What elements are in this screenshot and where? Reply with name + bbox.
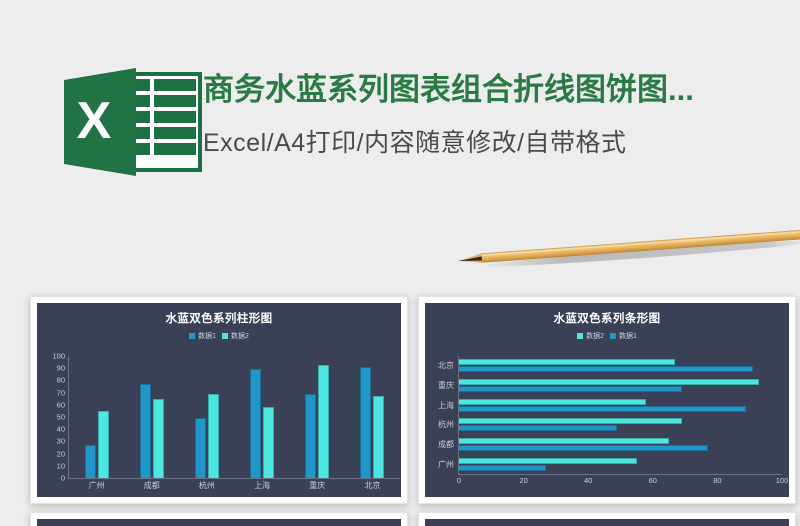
excel-logo-svg: X xyxy=(58,66,206,178)
y-axis-tick-label: 重庆 xyxy=(427,376,457,396)
bar-group xyxy=(459,356,782,376)
pencil-icon xyxy=(451,220,800,277)
y-axis-tick-label: 10 xyxy=(41,462,65,470)
column-bar[interactable] xyxy=(318,365,329,478)
bar-chart-title: 水蓝双色系列条形图 xyxy=(425,303,789,326)
x-axis-tick-label: 杭州 xyxy=(179,480,234,491)
bar-group xyxy=(459,376,782,396)
horizontal-bar[interactable] xyxy=(459,386,682,392)
x-axis-tick-label: 上海 xyxy=(235,480,290,491)
y-axis-tick-label: 上海 xyxy=(427,395,457,415)
legend-swatch-icon xyxy=(222,333,228,339)
horizontal-bar[interactable] xyxy=(459,406,746,412)
y-axis-tick-label: 广州 xyxy=(427,454,457,474)
legend-item-series2[interactable]: 数据2 xyxy=(222,331,249,341)
horizontal-bar[interactable] xyxy=(459,445,708,451)
legend-label: 数据1 xyxy=(619,331,637,341)
bar-chart-plot: 北京重庆上海杭州成都广州 020406080100 xyxy=(425,356,789,496)
column-chart-plot: 1009080706050403020100 广州成都杭州上海重庆北京 xyxy=(37,356,401,496)
next-chart-canvas-right xyxy=(425,519,789,526)
column-bar[interactable] xyxy=(140,384,151,478)
y-axis-tick-label: 90 xyxy=(41,364,65,372)
bar-group xyxy=(459,415,782,435)
legend-label: 数据2 xyxy=(586,331,604,341)
column-group xyxy=(235,356,290,478)
y-axis-tick-label: 杭州 xyxy=(427,415,457,435)
legend-swatch-icon xyxy=(577,333,583,339)
x-axis-line xyxy=(458,474,782,475)
template-preview-sheet: 水蓝双色系列柱形图 数据1 数据2 1009080706050403020100… xyxy=(12,292,800,526)
horizontal-bar[interactable] xyxy=(459,438,669,444)
legend-item-series2[interactable]: 数据2 xyxy=(577,331,604,341)
title-block: 商务水蓝系列图表组合折线图饼图... Excel/A4打印/内容随意修改/自带格… xyxy=(203,70,800,163)
horizontal-bar[interactable] xyxy=(459,418,682,424)
y-axis-tick-label: 20 xyxy=(41,450,65,458)
y-axis-tick-label: 100 xyxy=(41,352,65,360)
column-chart-bars xyxy=(69,356,400,478)
legend-item-series1[interactable]: 数据1 xyxy=(610,331,637,341)
x-axis-tick-label: 80 xyxy=(713,476,721,485)
horizontal-bar[interactable] xyxy=(459,458,637,464)
bar-group xyxy=(459,435,782,455)
x-axis-tick-label: 100 xyxy=(776,476,789,485)
y-axis-tick-label: 50 xyxy=(41,413,65,421)
pencil-svg xyxy=(451,220,800,277)
column-bar[interactable] xyxy=(195,418,206,478)
column-bar[interactable] xyxy=(208,394,219,478)
bar-chart-canvas: 水蓝双色系列条形图 数据2 数据1 北京重庆上海杭州成都广州 020406080… xyxy=(425,303,789,497)
x-axis-tick-label: 成都 xyxy=(124,480,179,491)
y-axis-tick-label: 80 xyxy=(41,377,65,385)
bar-chart-card[interactable]: 水蓝双色系列条形图 数据2 数据1 北京重庆上海杭州成都广州 020406080… xyxy=(418,296,796,504)
horizontal-bar[interactable] xyxy=(459,465,546,471)
bar-group xyxy=(459,454,782,474)
y-axis-tick-label: 70 xyxy=(41,389,65,397)
legend-swatch-icon xyxy=(189,333,195,339)
bar-chart-legend: 数据2 数据1 xyxy=(425,331,789,341)
column-bar[interactable] xyxy=(373,396,384,478)
y-axis-tick-label: 40 xyxy=(41,425,65,433)
horizontal-bar[interactable] xyxy=(459,379,759,385)
column-group xyxy=(124,356,179,478)
column-bar[interactable] xyxy=(250,369,261,478)
legend-item-series1[interactable]: 数据1 xyxy=(189,331,216,341)
column-chart-card[interactable]: 水蓝双色系列柱形图 数据1 数据2 1009080706050403020100… xyxy=(30,296,408,504)
next-chart-card-right[interactable] xyxy=(418,512,796,526)
x-axis-tick-label: 北京 xyxy=(345,480,400,491)
column-chart-canvas: 水蓝双色系列柱形图 数据1 数据2 1009080706050403020100… xyxy=(37,303,401,497)
column-chart-y-axis: 1009080706050403020100 xyxy=(43,356,67,478)
x-axis-tick-label: 20 xyxy=(519,476,527,485)
page-title: 商务水蓝系列图表组合折线图饼图... xyxy=(203,70,800,110)
horizontal-bar[interactable] xyxy=(459,399,646,405)
y-axis-tick-label: 30 xyxy=(41,438,65,446)
page-subtitle: Excel/A4打印/内容随意修改/自带格式 xyxy=(203,123,800,163)
excel-logo-icon: X xyxy=(58,66,206,178)
header-banner: X 商务水蓝系列图表组合折线图饼图... Excel/A4打印/内容随意修改/自… xyxy=(0,0,800,200)
legend-swatch-icon xyxy=(610,333,616,339)
bar-group xyxy=(459,395,782,415)
column-chart-legend: 数据1 数据2 xyxy=(37,331,401,341)
x-axis-tick-label: 0 xyxy=(457,476,461,485)
y-axis-tick-label: 成都 xyxy=(427,435,457,455)
column-bar[interactable] xyxy=(98,411,109,478)
x-axis-tick-label: 60 xyxy=(649,476,657,485)
column-group xyxy=(179,356,234,478)
x-axis-tick-label: 重庆 xyxy=(290,480,345,491)
column-group xyxy=(69,356,124,478)
horizontal-bar[interactable] xyxy=(459,366,753,372)
column-chart-title: 水蓝双色系列柱形图 xyxy=(37,303,401,326)
next-chart-canvas-left xyxy=(37,519,401,526)
column-bar[interactable] xyxy=(305,394,316,478)
column-group xyxy=(290,356,345,478)
legend-label: 数据1 xyxy=(198,331,216,341)
column-bar[interactable] xyxy=(263,407,274,478)
column-chart-x-labels: 广州成都杭州上海重庆北京 xyxy=(69,480,400,491)
legend-label: 数据2 xyxy=(231,331,249,341)
y-axis-tick-label: 0 xyxy=(41,474,65,482)
excel-logo-letter: X xyxy=(77,92,112,150)
bar-chart-bars xyxy=(459,356,782,474)
column-group xyxy=(345,356,400,478)
x-axis-tick-label: 40 xyxy=(584,476,592,485)
next-chart-card-left[interactable] xyxy=(30,512,408,526)
x-axis-line xyxy=(68,478,400,479)
horizontal-bar[interactable] xyxy=(459,425,617,431)
column-bar[interactable] xyxy=(153,399,164,478)
bar-chart-y-labels: 北京重庆上海杭州成都广州 xyxy=(427,356,457,474)
x-axis-tick-label: 广州 xyxy=(69,480,124,491)
bar-chart-x-ticks: 020406080100 xyxy=(459,476,782,488)
y-axis-tick-label: 北京 xyxy=(427,356,457,376)
horizontal-bar[interactable] xyxy=(459,359,675,365)
y-axis-tick-label: 60 xyxy=(41,401,65,409)
column-bar[interactable] xyxy=(85,445,96,478)
column-bar[interactable] xyxy=(360,367,371,478)
